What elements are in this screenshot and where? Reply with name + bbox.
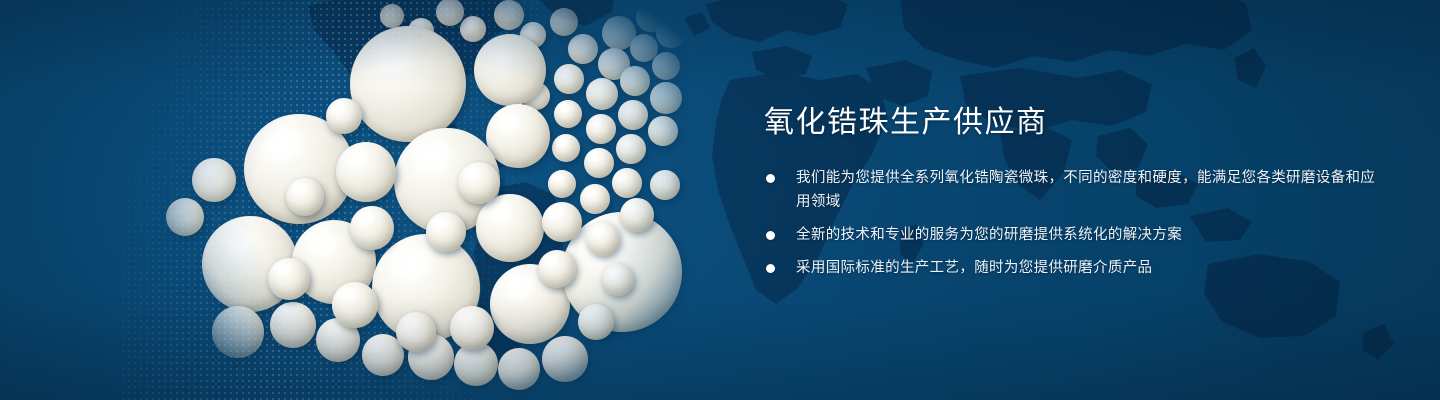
bullet-dot-icon (766, 264, 775, 273)
list-item-label: 我们能为您提供全系列氧化锆陶瓷微珠，不同的密度和硬度，能满足您各类研磨设备和应用… (796, 166, 1384, 214)
list-item-label: 全新的技术和专业的服务为您的研磨提供系统化的解决方案 (796, 223, 1384, 247)
list-item: 全新的技术和专业的服务为您的研磨提供系统化的解决方案 (764, 223, 1384, 247)
page-title: 氧化锆珠生产供应商 (764, 104, 1384, 142)
feature-list: 我们能为您提供全系列氧化锆陶瓷微珠，不同的密度和硬度，能满足您各类研磨设备和应用… (764, 166, 1384, 280)
bullet-dot-icon (766, 231, 775, 240)
list-item-label: 采用国际标准的生产工艺，随时为您提供研磨介质产品 (796, 256, 1384, 280)
banner-content: 氧化锆珠生产供应商 我们能为您提供全系列氧化锆陶瓷微珠，不同的密度和硬度，能满足… (764, 104, 1384, 280)
bullet-dot-icon (766, 174, 775, 183)
list-item: 我们能为您提供全系列氧化锆陶瓷微珠，不同的密度和硬度，能满足您各类研磨设备和应用… (764, 166, 1384, 214)
hero-banner: 氧化锆珠生产供应商 我们能为您提供全系列氧化锆陶瓷微珠，不同的密度和硬度，能满足… (0, 0, 1440, 400)
list-item: 采用国际标准的生产工艺，随时为您提供研磨介质产品 (764, 256, 1384, 280)
